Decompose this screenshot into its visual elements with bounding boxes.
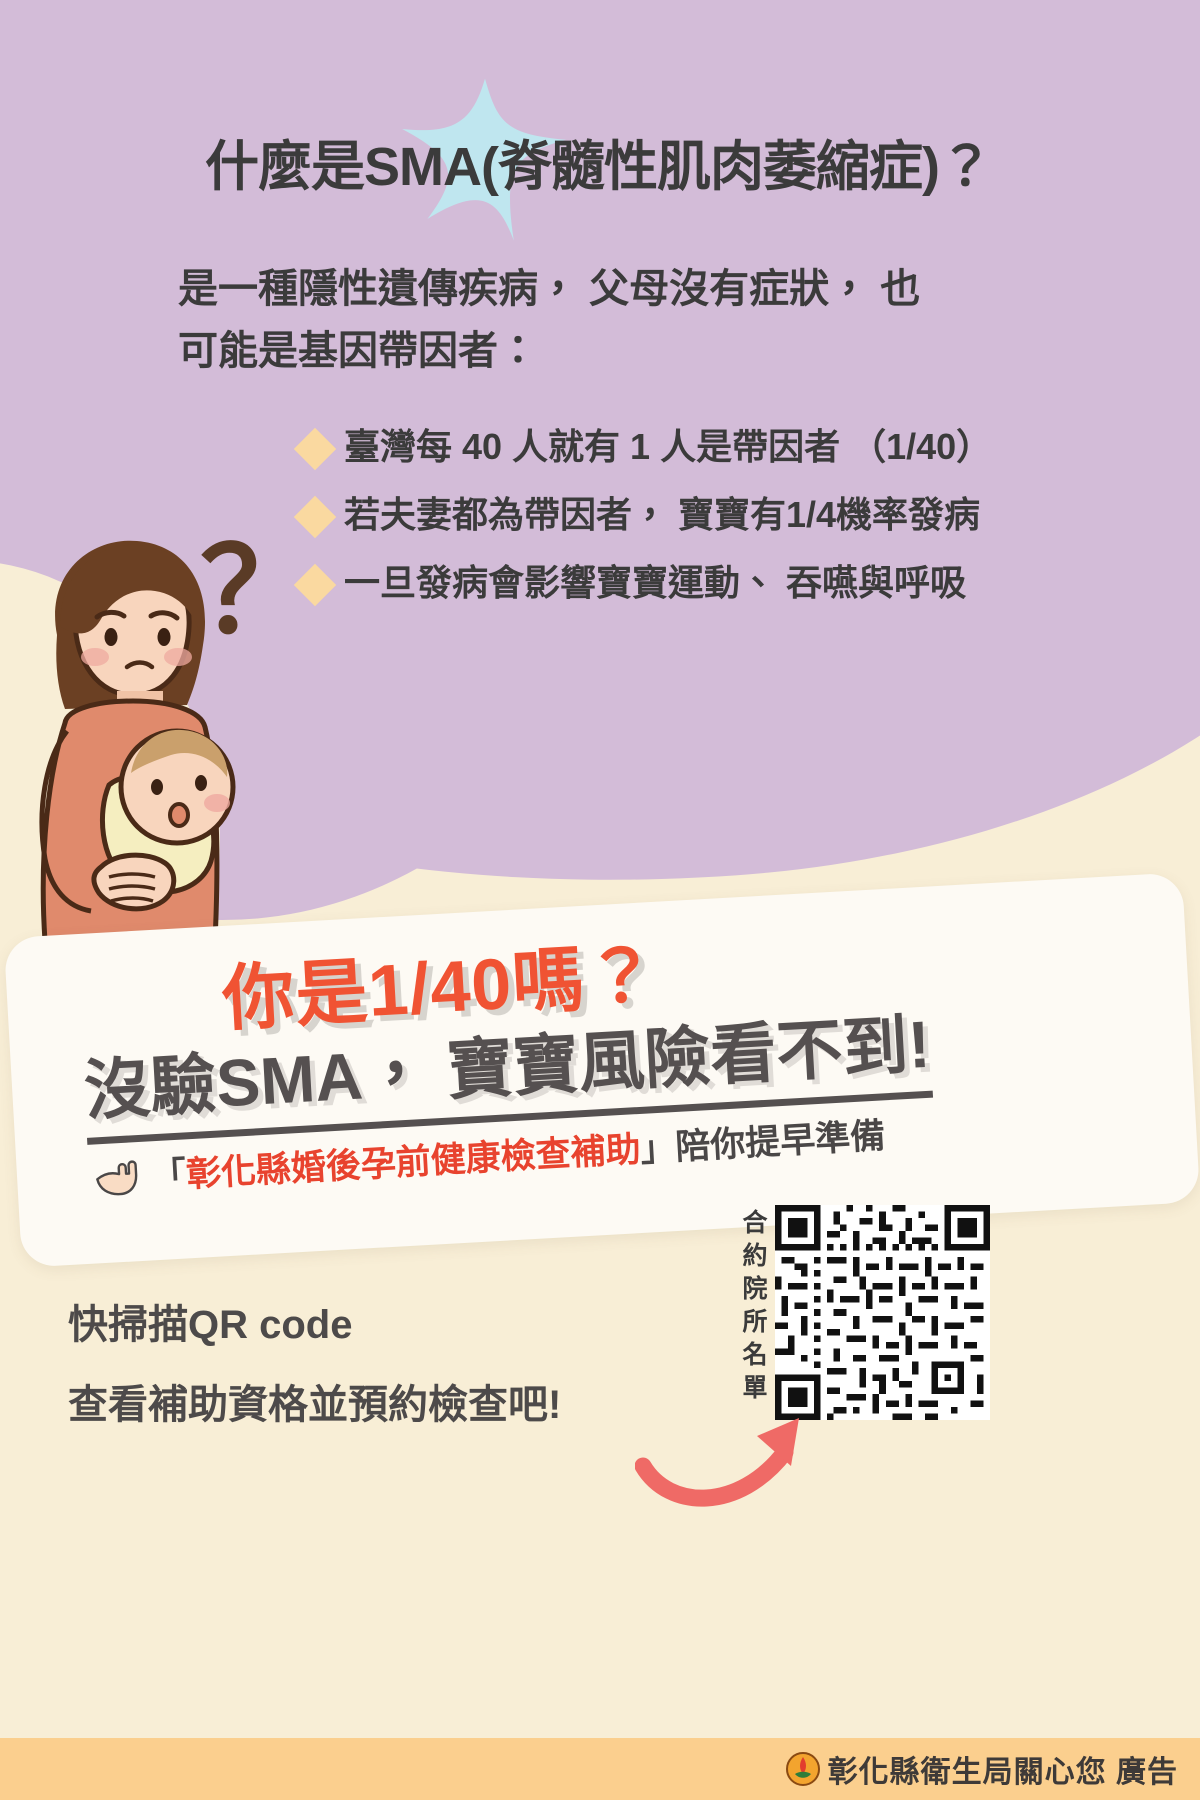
subline-suffix: 」陪你提早準備 [639, 1107, 886, 1172]
diamond-bullet-icon [294, 496, 336, 538]
footer-text: 彰化縣衛生局關心您 廣告 [828, 1747, 1178, 1791]
lead-line-1: 是一種隱性遺傳疾病， 父母沒有症狀， 也 [178, 258, 1078, 320]
footer-band: 彰化縣衛生局關心您 廣告 [0, 1738, 1200, 1800]
diamond-bullet-icon [294, 428, 336, 470]
bullet-text: 若夫妻都為帶因者， 寶寶有1/4機率發病 [344, 493, 980, 536]
footer-credit: 彰化縣衛生局關心您 廣告 [786, 1747, 1178, 1791]
poster-root: 什麼是SMA(脊髓性肌肉萎縮症)？ 是一種隱性遺傳疾病， 父母沒有症狀， 也 可… [0, 0, 1200, 1800]
mother-and-baby-illustration [5, 515, 295, 945]
fact-bullet-list: 臺灣每 40 人就有 1 人是帶因者 （1/40） 若夫妻都為帶因者， 寶寶有1… [300, 425, 1180, 630]
list-item: 臺灣每 40 人就有 1 人是帶因者 （1/40） [300, 425, 1180, 468]
lead-line-2: 可能是基因帶因者： [178, 320, 1078, 382]
scan-line-2: 查看補助資格並預約檢查吧! [68, 1365, 561, 1445]
qr-code-block[interactable]: 合約院所名單 [740, 1205, 990, 1420]
scan-line-1: 快掃描QR code [68, 1285, 561, 1365]
curved-arrow-icon [635, 1400, 835, 1520]
lead-paragraph: 是一種隱性遺傳疾病， 父母沒有症狀， 也 可能是基因帶因者： [178, 258, 1078, 382]
highlight-card-content: 你是1/40嗎？ 沒驗SMA， 寶寶風險看不到! 「 彰化縣婚後孕前健康檢查補助… [4, 872, 1200, 1267]
page-title: 什麼是SMA(脊髓性肌肉萎縮症)？ [205, 122, 992, 201]
qr-code-label: 合約院所名單 [740, 1209, 765, 1409]
scan-instruction: 快掃描QR code 查看補助資格並預約檢查吧! [68, 1285, 561, 1445]
bullet-text: 一旦發病會影響寶寶運動、 吞嚥與呼吸 [344, 561, 966, 604]
pointing-hand-icon [92, 1152, 146, 1199]
qr-code-icon[interactable] [775, 1205, 990, 1420]
list-item: 一旦發病會影響寶寶運動、 吞嚥與呼吸 [300, 561, 1180, 604]
government-seal-icon [786, 1752, 820, 1786]
bullet-text: 臺灣每 40 人就有 1 人是帶因者 （1/40） [344, 425, 992, 468]
subline-prefix: 「 [150, 1146, 188, 1199]
list-item: 若夫妻都為帶因者， 寶寶有1/4機率發病 [300, 493, 1180, 536]
diamond-bullet-icon [294, 564, 336, 606]
